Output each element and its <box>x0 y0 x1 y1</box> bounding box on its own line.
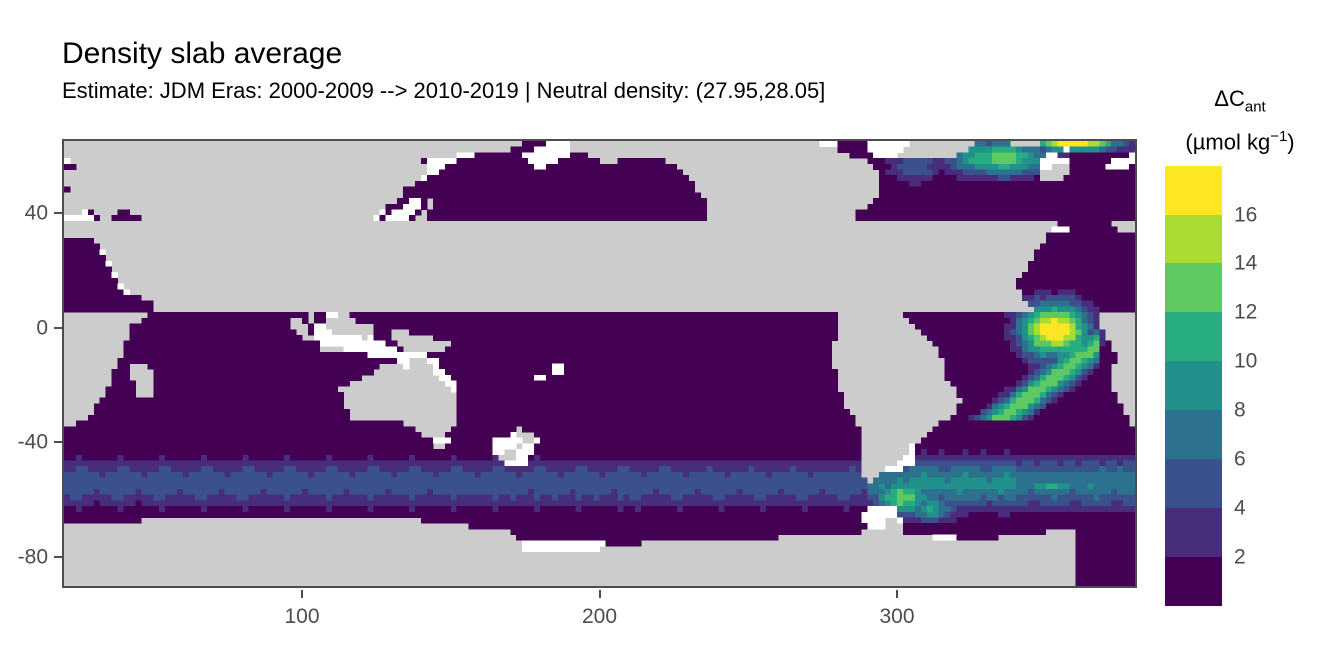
legend-tick-label: 12 <box>1234 302 1257 323</box>
legend-swatch <box>1165 557 1222 606</box>
y-tick-label: 0 <box>4 317 48 338</box>
y-axis: 400-40-80 <box>0 139 62 588</box>
x-tick-label: 200 <box>560 606 640 627</box>
legend-tick-label: 16 <box>1234 204 1257 225</box>
x-tick-mark <box>896 590 898 598</box>
figure-subtitle: Estimate: JDM Eras: 2000-2009 --> 2010-2… <box>62 76 1142 106</box>
legend-tick-label: 8 <box>1234 400 1246 421</box>
legend: ΔCant (µmol kg−1) 161412108642 <box>1160 84 1330 606</box>
legend-title: ΔCant (µmol kg−1) <box>1160 84 1320 158</box>
legend-swatch <box>1165 508 1222 557</box>
legend-tick-label: 2 <box>1234 546 1246 567</box>
colorbar[interactable] <box>1165 166 1222 606</box>
legend-bar-wrap: 161412108642 <box>1160 166 1320 606</box>
legend-tick-label: 6 <box>1234 449 1246 470</box>
world-map-heatmap <box>64 141 1135 586</box>
x-tick-mark <box>301 590 303 598</box>
x-tick-label: 100 <box>262 606 342 627</box>
legend-units-superscript: −1 <box>1270 128 1287 145</box>
y-tick-mark <box>54 327 62 329</box>
y-tick-label: 40 <box>4 202 48 223</box>
legend-swatch <box>1165 312 1222 361</box>
y-tick-mark <box>54 441 62 443</box>
legend-swatch <box>1165 459 1222 508</box>
legend-swatch <box>1165 166 1222 215</box>
x-tick-label: 300 <box>857 606 937 627</box>
legend-title-main: ΔC <box>1214 86 1245 111</box>
map-panel[interactable] <box>62 139 1137 588</box>
legend-swatch <box>1165 361 1222 410</box>
legend-title-subscript: ant <box>1245 98 1266 115</box>
x-tick-mark <box>599 590 601 598</box>
figure-root: Density slab average Estimate: JDM Eras:… <box>0 0 1344 672</box>
legend-swatch <box>1165 263 1222 312</box>
legend-tick-label: 14 <box>1234 253 1257 274</box>
legend-tick-label: 4 <box>1234 497 1246 518</box>
y-tick-mark <box>54 212 62 214</box>
legend-units-post: ) <box>1287 130 1294 155</box>
y-tick-mark <box>54 556 62 558</box>
legend-swatch <box>1165 215 1222 264</box>
y-tick-label: -40 <box>4 432 48 453</box>
legend-units-pre: (µmol kg <box>1185 130 1270 155</box>
legend-swatch <box>1165 410 1222 459</box>
page-title: Density slab average <box>62 36 1142 72</box>
legend-tick-label: 10 <box>1234 351 1257 372</box>
title-block: Density slab average Estimate: JDM Eras:… <box>62 36 1142 106</box>
x-axis: 100200300 <box>62 590 1137 630</box>
y-tick-label: -80 <box>4 547 48 568</box>
